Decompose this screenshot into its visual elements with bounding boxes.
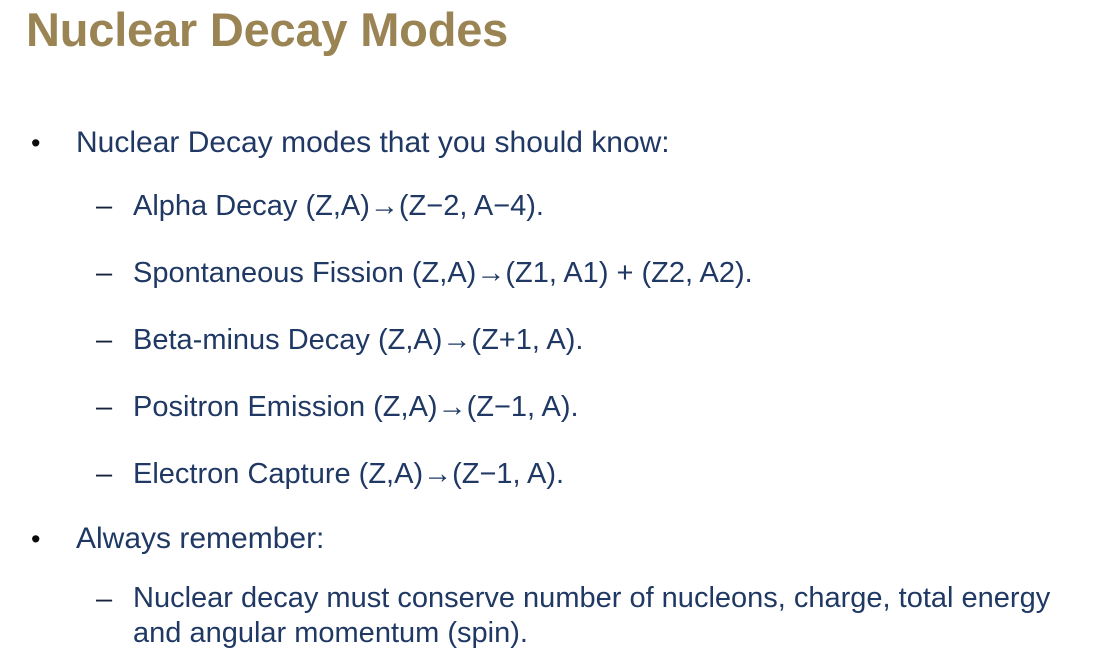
list-item: – Spontaneous Fission (Z,A)→(Z1, A1) + (… [0,255,1100,291]
sub-bullet-text-conservation-rule: Nuclear decay must conserve number of nu… [133,581,1062,651]
list-item: – Alpha Decay (Z,A)→(Z−2, A−4). [0,188,1100,224]
bullet-dot-icon: • [30,124,76,162]
list-item: • Nuclear Decay modes that you should kn… [0,124,1100,162]
sub-bullet-spontaneous-fission: – Spontaneous Fission (Z,A)→(Z1, A1) + (… [0,255,1100,291]
list-item: – Positron Emission (Z,A)→(Z−1, A). [0,389,1100,425]
sub-bullet-text-positron-emission: Positron Emission (Z,A)→(Z−1, A). [133,389,1100,425]
bullet-group-decay-modes: • Nuclear Decay modes that you should kn… [0,124,1100,162]
dash-marker-icon: – [96,456,133,492]
list-item: • Always remember: [0,520,1100,558]
list-item: – Beta-minus Decay (Z,A)→(Z+1, A). [0,322,1100,358]
sub-bullet-text-electron-capture: Electron Capture (Z,A)→(Z−1, A). [133,456,1100,492]
sub-bullet-positron-emission: – Positron Emission (Z,A)→(Z−1, A). [0,389,1100,425]
bullet-text-decay-modes-heading: Nuclear Decay modes that you should know… [76,124,1100,162]
sub-bullet-text-beta-minus-decay: Beta-minus Decay (Z,A)→(Z+1, A). [133,322,1100,358]
bullet-text-always-remember-heading: Always remember: [76,520,1100,558]
bullet-group-always-remember: • Always remember: [0,520,1100,558]
slide-canvas: Nuclear Decay Modes • Nuclear Decay mode… [0,0,1118,663]
dash-marker-icon: – [96,322,133,358]
list-item: – Nuclear decay must conserve number of … [0,581,1062,651]
dash-marker-icon: – [96,389,133,425]
page-title: Nuclear Decay Modes [26,1,1086,59]
sub-bullet-text-alpha-decay: Alpha Decay (Z,A)→(Z−2, A−4). [133,188,1100,224]
sub-bullet-text-spontaneous-fission: Spontaneous Fission (Z,A)→(Z1, A1) + (Z2… [133,255,1100,291]
sub-bullet-conservation-rule: – Nuclear decay must conserve number of … [0,581,1062,651]
sub-bullet-electron-capture: – Electron Capture (Z,A)→(Z−1, A). [0,456,1100,492]
dash-marker-icon: – [96,255,133,291]
dash-marker-icon: – [96,188,133,224]
sub-bullet-beta-minus-decay: – Beta-minus Decay (Z,A)→(Z+1, A). [0,322,1100,358]
sub-bullet-alpha-decay: – Alpha Decay (Z,A)→(Z−2, A−4). [0,188,1100,224]
list-item: – Electron Capture (Z,A)→(Z−1, A). [0,456,1100,492]
dash-marker-icon: – [96,581,133,617]
bullet-dot-icon: • [30,520,76,558]
